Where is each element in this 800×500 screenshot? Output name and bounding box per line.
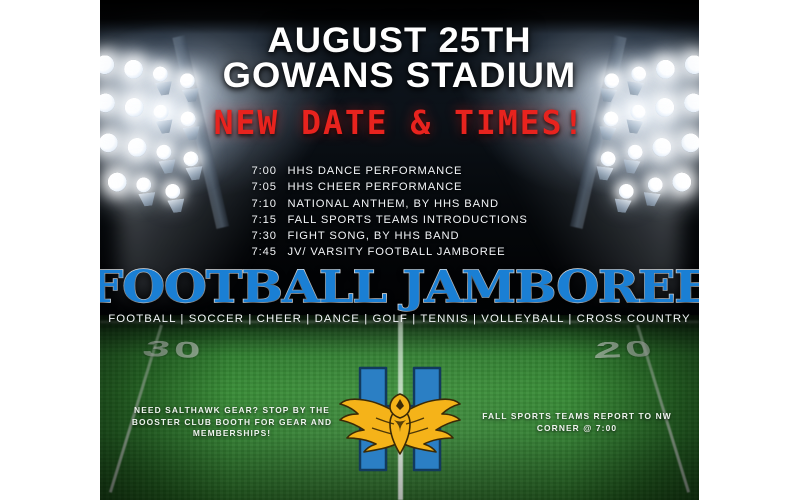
booster-club-note: NEED SALTHAWK GEAR? STOP BY THE BOOSTER … <box>122 405 342 440</box>
schedule-list: 7:00HHS DANCE PERFORMANCE7:05HHS CHEER P… <box>100 163 699 261</box>
event-flyer: 30 20 AUGUST 25TH GOWANS STADIUM NEW DAT… <box>100 0 699 500</box>
schedule-event: JV/ VARSITY FOOTBALL JAMBOREE <box>288 244 548 260</box>
schedule-time: 7:30 <box>252 228 288 244</box>
schedule-row: 7:10NATIONAL ANTHEM, BY HHS BAND <box>252 196 548 212</box>
headline-block: AUGUST 25TH GOWANS STADIUM <box>100 24 699 92</box>
winged-salthawk-h-logo-icon <box>338 358 462 478</box>
schedule-time: 7:05 <box>252 179 288 195</box>
schedule-row: 7:30FIGHT SONG, BY HHS BAND <box>252 228 548 244</box>
schedule-event: HHS CHEER PERFORMANCE <box>288 179 548 195</box>
schedule-row: 7:45JV/ VARSITY FOOTBALL JAMBOREE <box>252 244 548 260</box>
poster-frame: 30 20 AUGUST 25TH GOWANS STADIUM NEW DAT… <box>0 0 800 500</box>
schedule-event: FALL SPORTS TEAMS INTRODUCTIONS <box>288 212 548 228</box>
schedule-event: HHS DANCE PERFORMANCE <box>288 163 548 179</box>
schedule-row: 7:05HHS CHEER PERFORMANCE <box>252 179 548 195</box>
schedule-time: 7:00 <box>252 163 288 179</box>
schedule-time: 7:15 <box>252 212 288 228</box>
schedule-time: 7:10 <box>252 196 288 212</box>
event-date: AUGUST 25TH <box>100 24 699 58</box>
sports-list: FOOTBALL | SOCCER | CHEER | DANCE | GOLF… <box>100 313 699 325</box>
schedule-row: 7:00HHS DANCE PERFORMANCE <box>252 163 548 179</box>
team-report-note: FALL SPORTS TEAMS REPORT TO NW CORNER @ … <box>477 411 677 434</box>
schedule-event: NATIONAL ANTHEM, BY HHS BAND <box>288 196 548 212</box>
event-title: FOOTBALL JAMBOREE <box>100 266 699 310</box>
schedule-time: 7:45 <box>252 244 288 260</box>
announcement-text: NEW DATE & TIMES! <box>100 103 699 142</box>
schedule-event: FIGHT SONG, BY HHS BAND <box>288 228 548 244</box>
schedule-row: 7:15FALL SPORTS TEAMS INTRODUCTIONS <box>252 212 548 228</box>
event-venue: GOWANS STADIUM <box>100 59 699 93</box>
